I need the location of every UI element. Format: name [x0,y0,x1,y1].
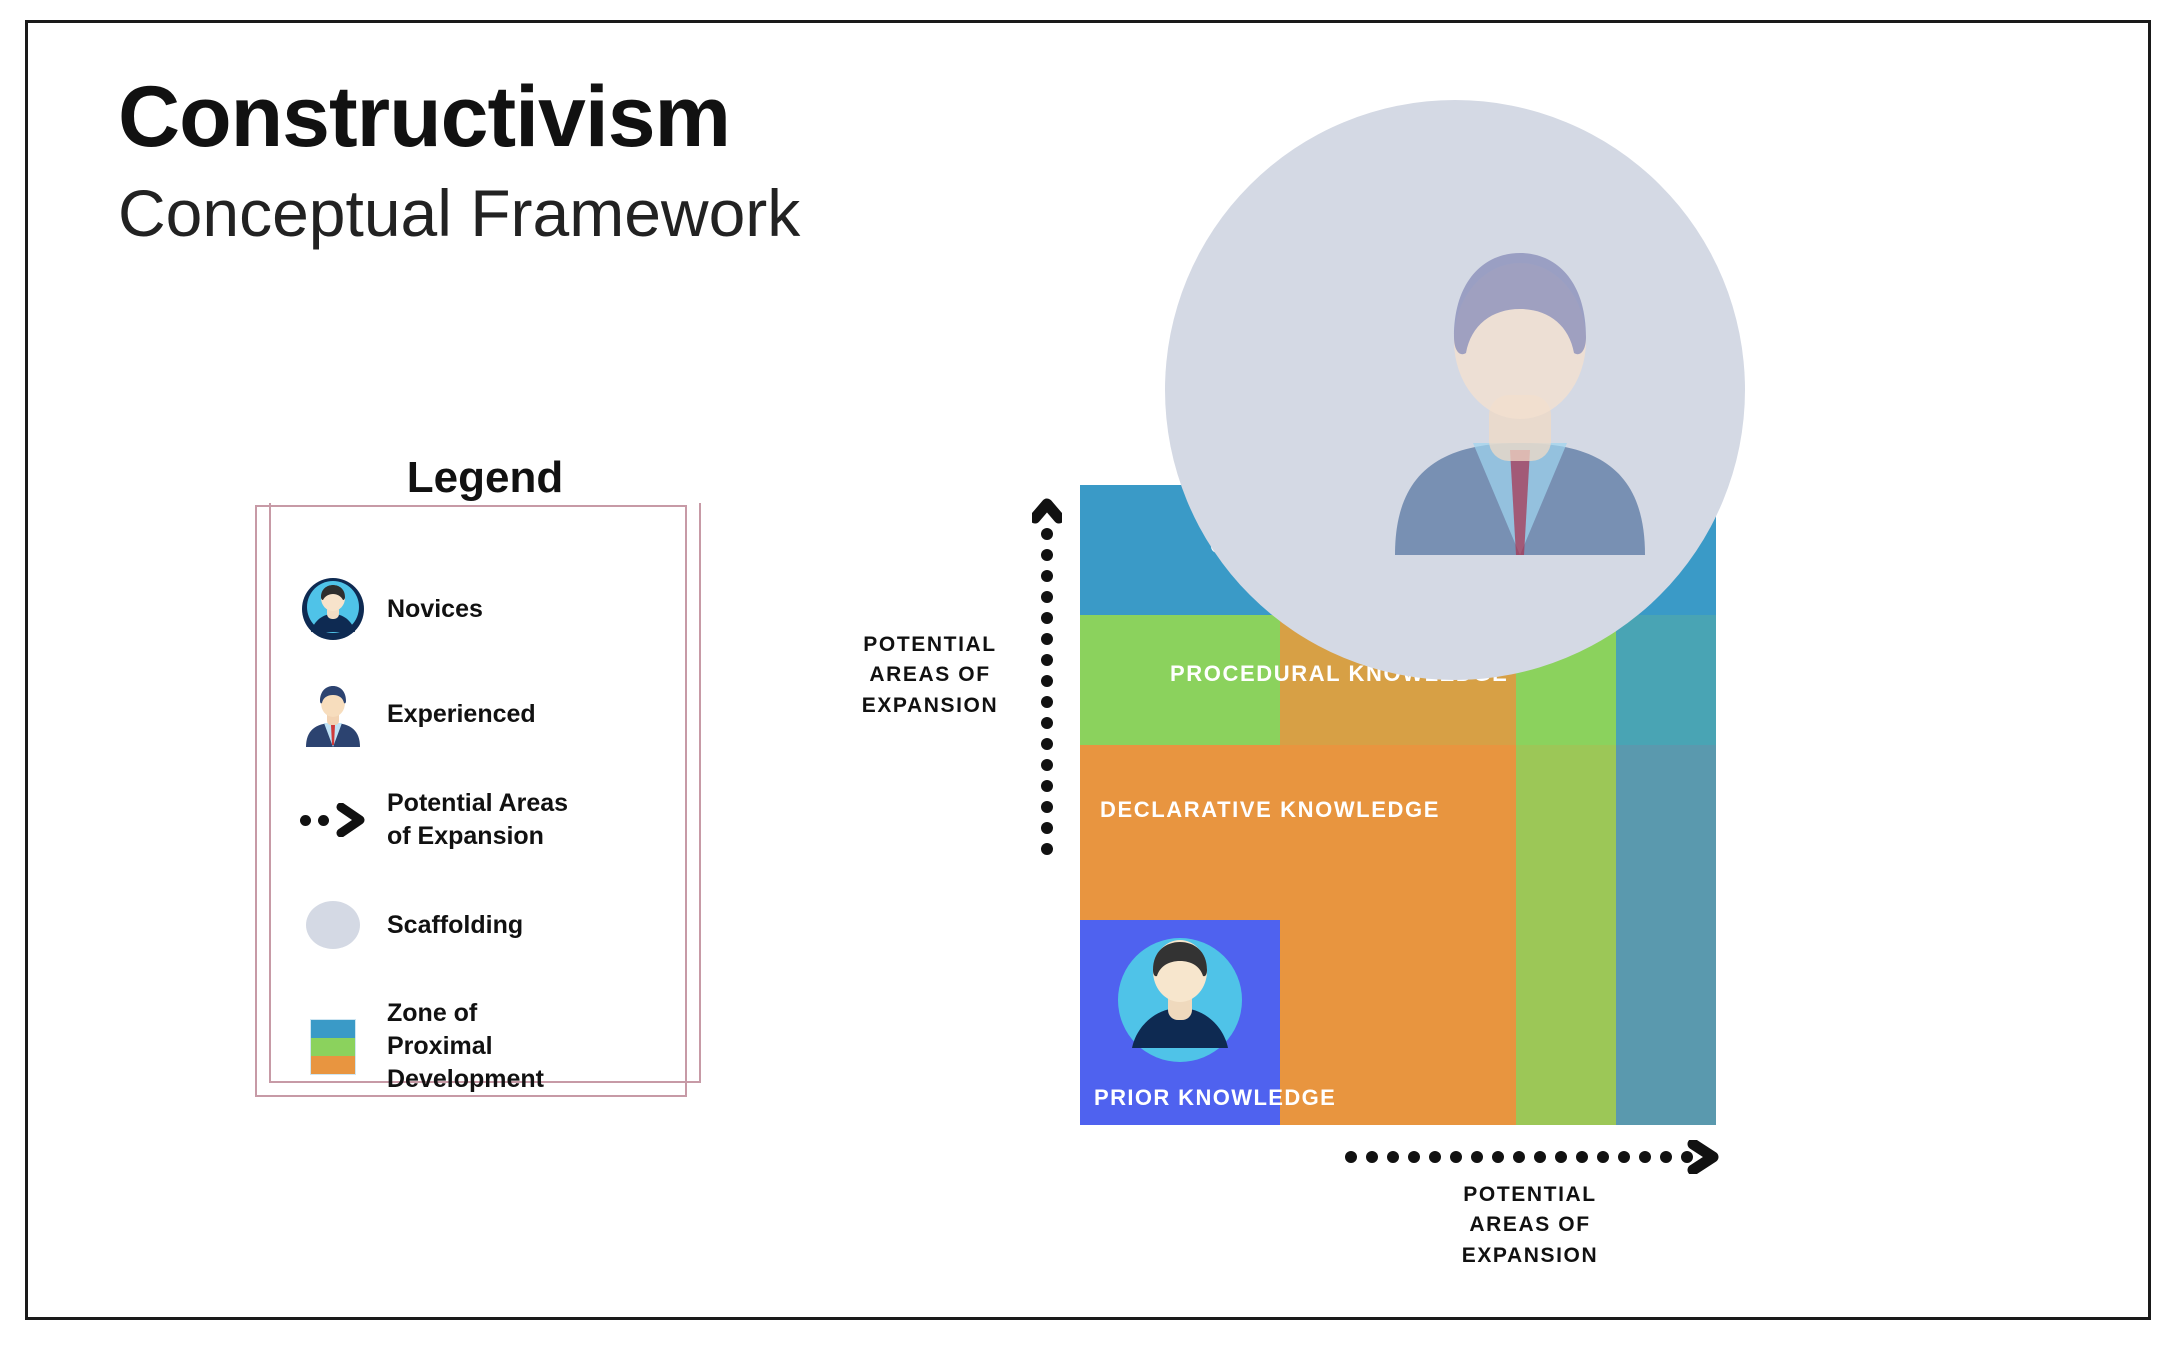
zpd-swatch-icon [295,1019,371,1075]
arrow-dot [1041,717,1053,729]
arrow-dot [1041,570,1053,582]
novice-avatar-icon [295,578,371,640]
legend-panel: Legend Novices [255,505,715,1125]
vertical-expansion-arrow [1032,480,1062,860]
arrow-dot [1408,1151,1420,1163]
arrow-dot [1660,1151,1672,1163]
businessman-avatar-icon [295,681,371,747]
dotted-arrow-icon [295,803,371,837]
page-subtitle: Conceptual Framework [118,176,800,252]
prior-knowledge-cell: PRIOR KNOWLEDGE [1080,920,1280,1125]
arrow-dot [1041,612,1053,624]
arrow-dot [1041,591,1053,603]
legend-item-label: Potential Areasof Expansion [387,787,568,853]
band-label-prior: PRIOR KNOWLEDGE [1094,1085,1336,1111]
arrow-dot [1041,801,1053,813]
legend-item-experienced: Experienced [295,681,695,747]
arrow-dot [1345,1151,1357,1163]
arrow-dot [1041,654,1053,666]
zpd-swatch-orange [311,1056,355,1074]
arrow-dot [1041,843,1053,855]
arrow-dot [1534,1151,1546,1163]
arrow-dot [1597,1151,1609,1163]
zpd-swatch-green [311,1038,355,1056]
legend-item-label: Experienced [387,698,536,731]
experienced-learner-figure [1355,245,1685,555]
arrow-dot [1041,759,1053,771]
arrow-dot [1639,1151,1651,1163]
legend-item-label: Zone ofProximalDevelopment [387,997,544,1096]
legend-item-list: Novices Experienced [295,577,695,1136]
arrow-dot [1041,528,1053,540]
arrow-dot [1041,822,1053,834]
legend-title: Legend [255,453,715,503]
legend-item-scaffolding: Scaffolding [295,893,695,957]
arrow-dot [1041,696,1053,708]
arrow-dot [1366,1151,1378,1163]
horizontal-expansion-arrow [1345,1140,1725,1174]
horizontal-axis-label: POTENTIALAREAS OFEXPANSION [1400,1180,1660,1271]
arrow-dot [1555,1151,1567,1163]
arrow-dot [1041,675,1053,687]
arrow-dot [1041,738,1053,750]
arrow-dot [1513,1151,1525,1163]
arrow-dot [1450,1151,1462,1163]
arrow-dot [1041,780,1053,792]
page-title: Constructivism [118,72,800,162]
arrow-dot [1041,633,1053,645]
arrow-dot [1471,1151,1483,1163]
legend-item-label: Novices [387,593,483,626]
legend-item-zpd: Zone ofProximalDevelopment [295,997,695,1096]
vertical-axis-label: POTENTIALAREAS OFEXPANSION [840,630,1020,721]
arrow-dot [1576,1151,1588,1163]
arrow-dot [1387,1151,1399,1163]
legend-item-novices: Novices [295,577,695,641]
legend-item-label: Scaffolding [387,909,523,942]
band-label-declarative: DECLARATIVE KNOWLEDGE [1100,797,1440,823]
arrow-dot [1681,1151,1693,1163]
arrow-dot [1618,1151,1630,1163]
arrow-dot [1429,1151,1441,1163]
scaffolding-circle-icon [295,901,371,949]
legend-item-expansion: Potential Areasof Expansion [295,787,695,853]
arrow-dot [1492,1151,1504,1163]
zpd-swatch-blue [311,1020,355,1038]
title-block: Constructivism Conceptual Framework [118,72,800,252]
arrow-dot [1041,549,1053,561]
